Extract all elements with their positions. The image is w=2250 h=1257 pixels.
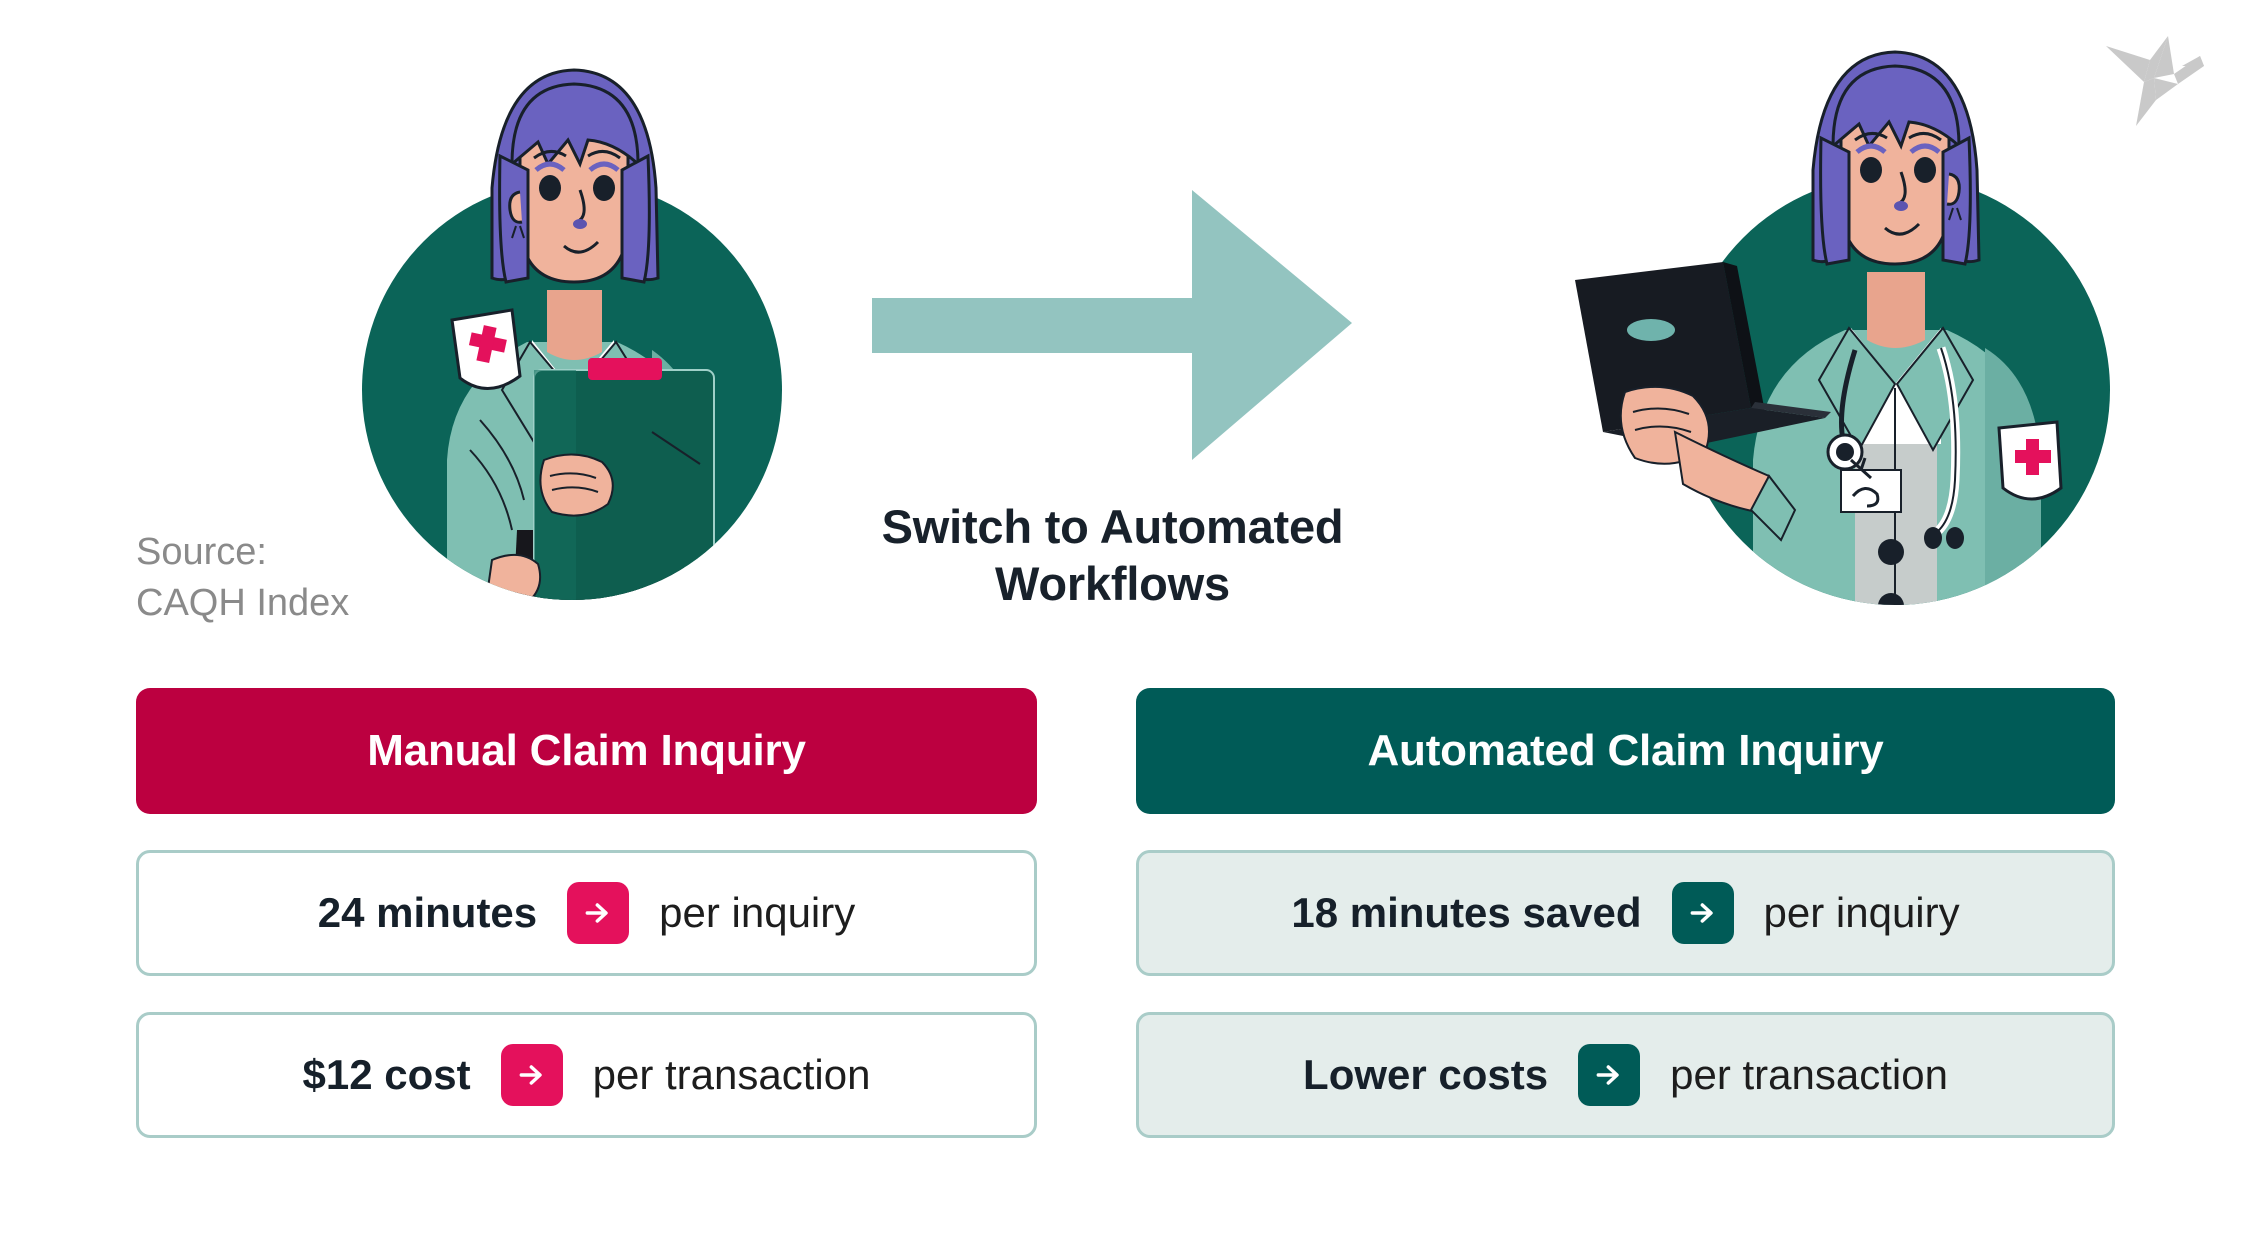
stat-key: 24 minutes <box>318 889 537 937</box>
right-arrow-large-icon <box>872 190 1352 460</box>
stat-row-manual-time: 24 minutes per inquiry <box>136 850 1037 976</box>
stat-key: $12 cost <box>303 1051 471 1099</box>
stat-row-manual-cost: $12 cost per transaction <box>136 1012 1037 1138</box>
stat-value: per transaction <box>593 1051 871 1099</box>
column-automated: Automated Claim Inquiry 18 minutes saved… <box>1136 688 2115 1138</box>
source-note: Source: CAQH Index <box>136 527 426 628</box>
source-value: CAQH Index <box>136 578 426 629</box>
page-title: Switch to Automated Workflows <box>840 498 1385 613</box>
headline-line-2: Workflows <box>840 555 1385 612</box>
doctor-with-laptop-illustration <box>1555 40 2115 640</box>
column-header-manual: Manual Claim Inquiry <box>136 688 1037 814</box>
column-manual: Manual Claim Inquiry 24 minutes per inqu… <box>136 688 1037 1138</box>
arrow-right-icon <box>1578 1044 1640 1106</box>
stat-key: Lower costs <box>1303 1051 1548 1099</box>
illustration-band: Switch to Automated Workflows Source: CA… <box>0 0 2250 660</box>
arrow-right-icon <box>501 1044 563 1106</box>
arrow-right-icon <box>567 882 629 944</box>
stat-key: 18 minutes saved <box>1291 889 1641 937</box>
source-label: Source: <box>136 527 426 578</box>
column-header-automated: Automated Claim Inquiry <box>1136 688 2115 814</box>
stat-row-automated-cost: Lower costs per transaction <box>1136 1012 2115 1138</box>
stat-value: per inquiry <box>1764 889 1960 937</box>
arrow-right-icon <box>1672 882 1734 944</box>
stat-value: per inquiry <box>659 889 855 937</box>
headline-line-1: Switch to Automated <box>840 498 1385 555</box>
stat-value: per transaction <box>1670 1051 1948 1099</box>
stat-row-automated-time: 18 minutes saved per inquiry <box>1136 850 2115 976</box>
